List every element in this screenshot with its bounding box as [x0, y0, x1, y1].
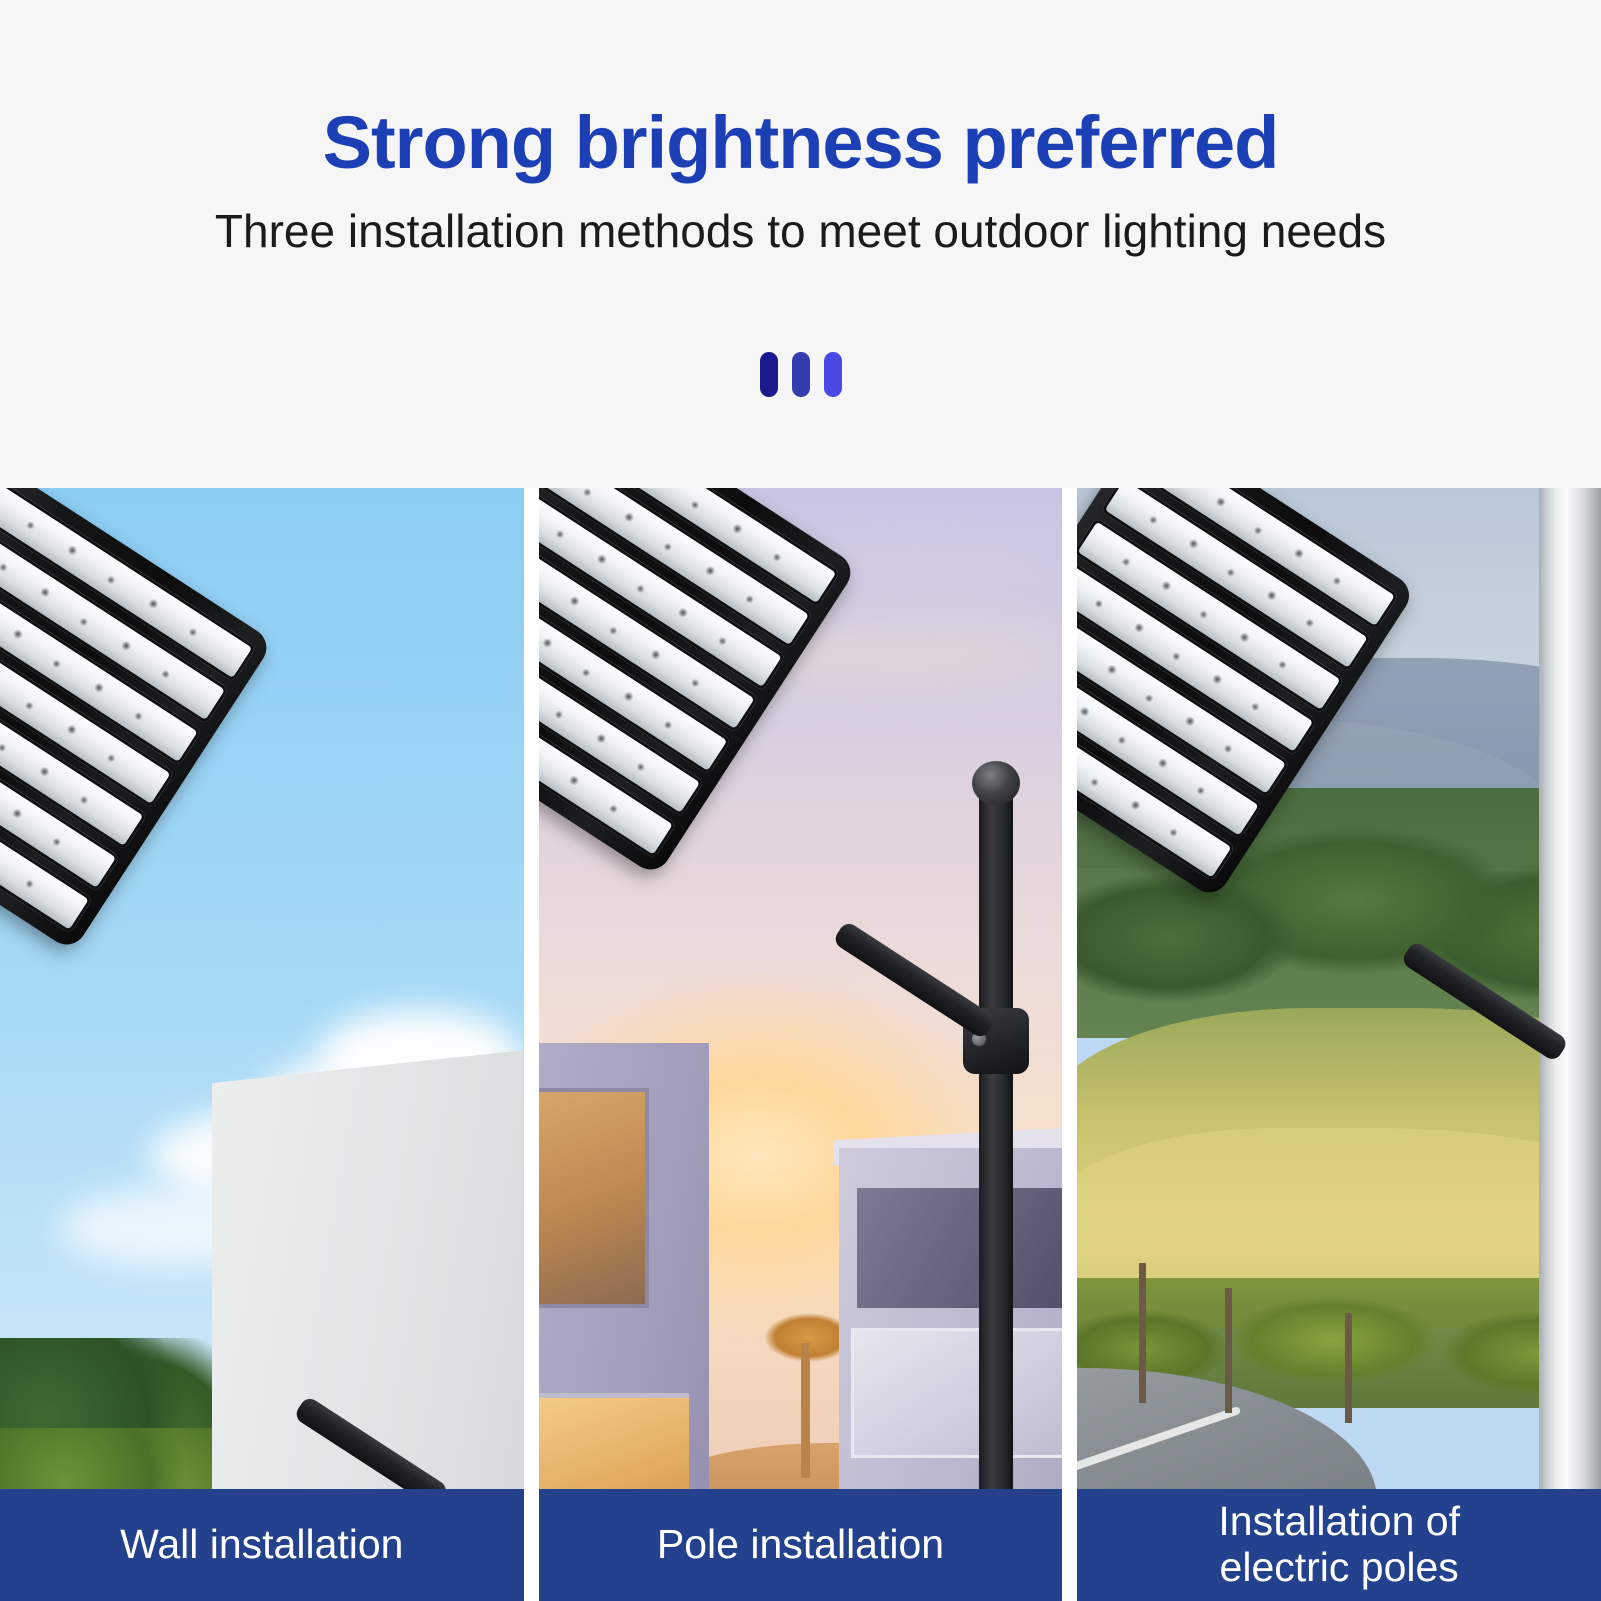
- utility-pole: [1345, 1313, 1352, 1423]
- installation-panels: Wall installation: [0, 488, 1601, 1601]
- scene-pole: [539, 488, 1063, 1601]
- divider-bar-3: [824, 352, 842, 397]
- lit-window: [539, 1088, 649, 1308]
- glass-facade: [857, 1188, 1063, 1308]
- panel-caption-pole: Pole installation: [539, 1489, 1063, 1601]
- panel-electric-pole-installation[interactable]: Installation of electric poles: [1077, 488, 1601, 1601]
- page-subtitle: Three installation methods to meet outdo…: [215, 206, 1386, 257]
- panel-wall-installation[interactable]: Wall installation: [0, 488, 524, 1601]
- panel-pole-installation[interactable]: Pole installation: [539, 488, 1063, 1601]
- header: Strong brightness preferred Three instal…: [0, 0, 1601, 488]
- utility-pole: [1225, 1288, 1232, 1413]
- divider-bar-1: [760, 352, 778, 397]
- panel-caption-wall: Wall installation: [0, 1489, 524, 1601]
- three-bar-divider: [0, 352, 1601, 397]
- panel-caption-electric-pole: Installation of electric poles: [1077, 1489, 1601, 1601]
- product-banner: Strong brightness preferred Three instal…: [0, 0, 1601, 1601]
- scene-wall: [0, 488, 524, 1601]
- utility-pole: [1139, 1263, 1146, 1403]
- palm-tree-trunk: [801, 1343, 810, 1478]
- page-title: Strong brightness preferred: [323, 104, 1279, 182]
- pole-cap: [972, 761, 1020, 805]
- divider-bar-2: [792, 352, 810, 397]
- mounting-pole: [979, 788, 1013, 1601]
- scene-electric-pole: [1077, 488, 1601, 1601]
- balcony-railing: [851, 1328, 1063, 1458]
